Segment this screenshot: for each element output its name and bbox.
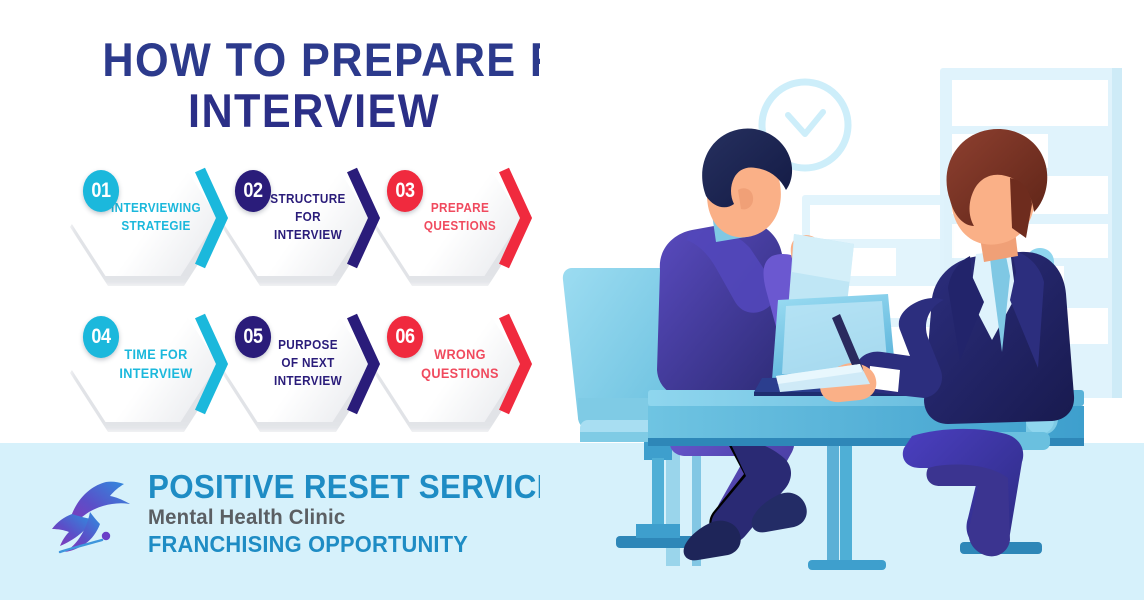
chevron-right-icon xyxy=(196,166,230,270)
title-line-1: HOW TO PREPARE FOR xyxy=(102,36,525,84)
step-number-badge: 06 xyxy=(387,316,423,358)
step-label: WRONG QUESTIONS xyxy=(411,306,509,422)
chevron-right-icon xyxy=(500,166,534,270)
step-card-04[interactable]: 04 TIME FOR INTERVIEW xyxy=(68,306,224,428)
step-number-badge: 04 xyxy=(83,316,119,358)
step-number-badge: 02 xyxy=(235,170,271,212)
step-label: PURPOSE OF NEXT INTERVIEW xyxy=(259,306,357,422)
step-label: TIME FOR INTERVIEW xyxy=(107,306,205,422)
step-label: STRUCTURE FOR INTERVIEW xyxy=(259,160,357,276)
step-number-badge: 01 xyxy=(83,170,119,212)
logo-text-group: POSITIVE RESET SERVICES Mental Health Cl… xyxy=(148,470,602,558)
job-interview-illustration xyxy=(540,0,1144,600)
step-card-02[interactable]: 02 STRUCTURE FOR INTERVIEW xyxy=(220,160,376,282)
step-card-05[interactable]: 05 PURPOSE OF NEXT INTERVIEW xyxy=(220,306,376,428)
infographic-canvas: HOW TO PREPARE FOR INTERVIEW 01 INTERVIE… xyxy=(0,0,1144,600)
step-label: PREPARE QUESTIONS xyxy=(411,160,509,276)
step-label: INTERVIEWING STRATEGIE xyxy=(107,160,205,276)
brand-logo[interactable]: POSITIVE RESET SERVICES Mental Health Cl… xyxy=(44,470,544,562)
dove-bird-logo-icon xyxy=(44,472,140,560)
logo-tagline: FRANCHISING OPPORTUNITY xyxy=(148,531,579,559)
page-title: HOW TO PREPARE FOR INTERVIEW xyxy=(84,36,544,135)
step-number-badge: 05 xyxy=(235,316,271,358)
step-card-06[interactable]: 06 WRONG QUESTIONS xyxy=(372,306,528,428)
step-number-badge: 03 xyxy=(387,170,423,212)
step-card-01[interactable]: 01 INTERVIEWING STRATEGIE xyxy=(68,160,224,282)
title-line-2: INTERVIEW xyxy=(102,86,525,135)
chevron-right-icon xyxy=(196,312,230,416)
chevron-right-icon xyxy=(500,312,534,416)
chevron-right-icon xyxy=(348,166,382,270)
step-card-03[interactable]: 03 PREPARE QUESTIONS xyxy=(372,160,528,282)
chevron-right-icon xyxy=(348,312,382,416)
logo-title: POSITIVE RESET SERVICES xyxy=(148,470,579,505)
logo-subtitle: Mental Health Clinic xyxy=(148,505,588,531)
steps-grid: 01 INTERVIEWING STRATEGIE 02 STRUCTURE F… xyxy=(68,160,558,428)
